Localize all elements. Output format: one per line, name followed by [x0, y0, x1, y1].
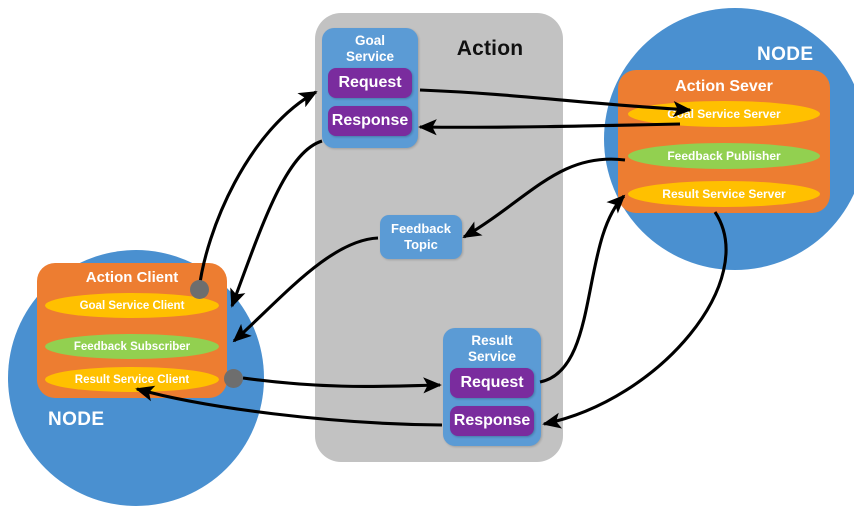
diagram-canvas: Action Client Goal Service Client Feedba… — [0, 0, 854, 480]
goal-client-connector-dot — [190, 280, 209, 299]
result-client-connector-dot — [224, 369, 243, 388]
connector-dot-layer — [0, 0, 854, 480]
